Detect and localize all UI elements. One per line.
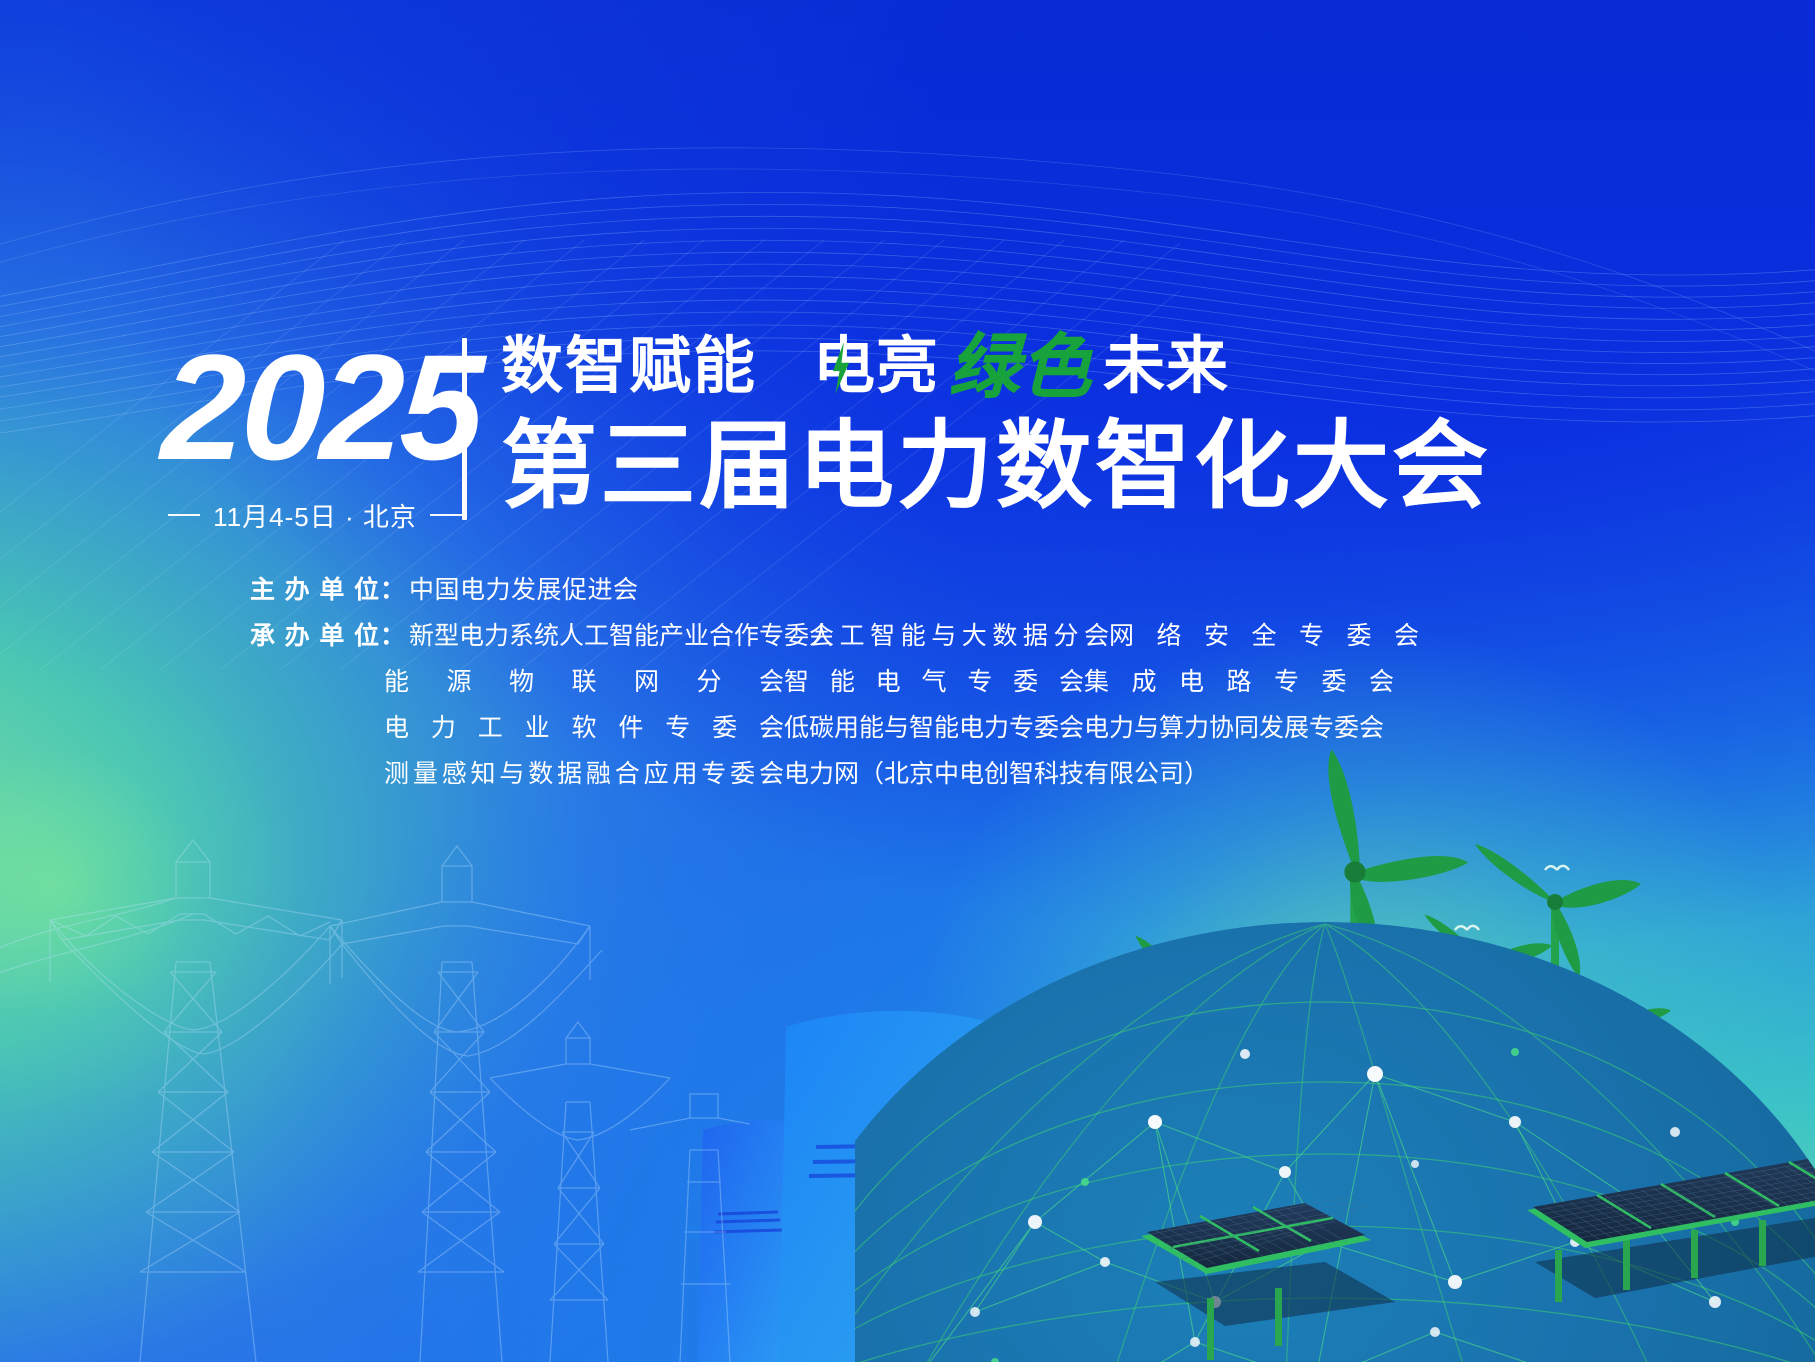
slogan-part2-green: 绿色 [939, 332, 1103, 402]
page-title: 第三届电力数智化大会 [501, 418, 1491, 516]
coorganizer-row: 承办单位 ： 新型电力系统人工智能产业合作专委会 人工智能与大数据分会 网络安全… [250, 616, 1419, 652]
rule-right-icon [430, 514, 462, 516]
coorganizer-r2-c2: 电力与算力协同发展专委会 [1084, 708, 1394, 744]
host-row: 主办单位 ： 中国电力发展促进会 [250, 570, 1419, 606]
coorganizer-r2-c1: 低碳用能与智能电力专委会 [784, 708, 1084, 744]
coorganizer-r0-c0: 新型电力系统人工智能产业合作专委会 [409, 616, 809, 652]
coorganizer-r2-c0: 电力工业软件专委会 [384, 708, 784, 744]
poster-content: 2025 11月4-5日 · 北京 数智赋能 电亮 绿色 未来 第三届电力数智化… [0, 0, 1815, 1362]
coorganizer-grid: 能源物联网分会 智能电气专委会 集成电路专委会 电力工业软件专委会 低碳用能与智… [250, 662, 1419, 790]
host-colon: ： [380, 570, 405, 606]
slogan-part1: 数智赋能 [501, 336, 757, 398]
host-value: 中国电力发展促进会 [409, 570, 639, 606]
coorganizer-colon: ： [380, 616, 405, 652]
date-location-row: 11月4-5日 · 北京 [168, 497, 462, 534]
coorganizer-label: 承办单位 [250, 616, 380, 652]
coorganizer-r0-c2: 网络安全专委会 [1109, 616, 1419, 652]
rule-left-icon [168, 514, 200, 516]
year-block: 2025 11月4-5日 · 北京 [162, 332, 462, 534]
coorganizer-r3-c0: 测量感知与数据融合应用专委会 [384, 754, 784, 790]
coorganizer-r1-c1: 智能电气专委会 [784, 662, 1084, 698]
title-block: 数智赋能 电亮 绿色 未来 第三届电力数智化大会 [501, 332, 1491, 516]
coorganizer-row-2: 能源物联网分会 智能电气专委会 集成电路专委会 [250, 662, 1419, 698]
slogan-part2-b: 未来 [1103, 336, 1229, 398]
coorganizer-r0-c1: 人工智能与大数据分会 [809, 616, 1109, 652]
year-text: 2025 [160, 336, 465, 479]
coorganizer-r1-c2: 集成电路专委会 [1084, 662, 1394, 698]
slogan-part2-a: 电亮 [813, 336, 939, 398]
headline-block: 2025 11月4-5日 · 北京 数智赋能 电亮 绿色 未来 第三届电力数智化… [162, 332, 1491, 534]
coorganizer-r3-c1: 电力网（北京中电创智科技有限公司） [784, 754, 1084, 790]
organizers-block: 主办单位 ： 中国电力发展促进会 承办单位 ： 新型电力系统人工智能产业合作专委… [250, 570, 1419, 800]
coorganizer-row-4: 测量感知与数据融合应用专委会 电力网（北京中电创智科技有限公司） [250, 754, 1419, 790]
conference-poster: 2025 11月4-5日 · 北京 数智赋能 电亮 绿色 未来 第三届电力数智化… [0, 0, 1815, 1362]
coorganizer-r1-c0: 能源物联网分会 [384, 662, 784, 698]
slogan: 数智赋能 电亮 绿色 未来 [501, 332, 1491, 402]
host-label: 主办单位 [250, 570, 380, 606]
date-location-text: 11月4-5日 · 北京 [213, 497, 417, 534]
coorganizer-row-3: 电力工业软件专委会 低碳用能与智能电力专委会 电力与算力协同发展专委会 [250, 708, 1419, 744]
